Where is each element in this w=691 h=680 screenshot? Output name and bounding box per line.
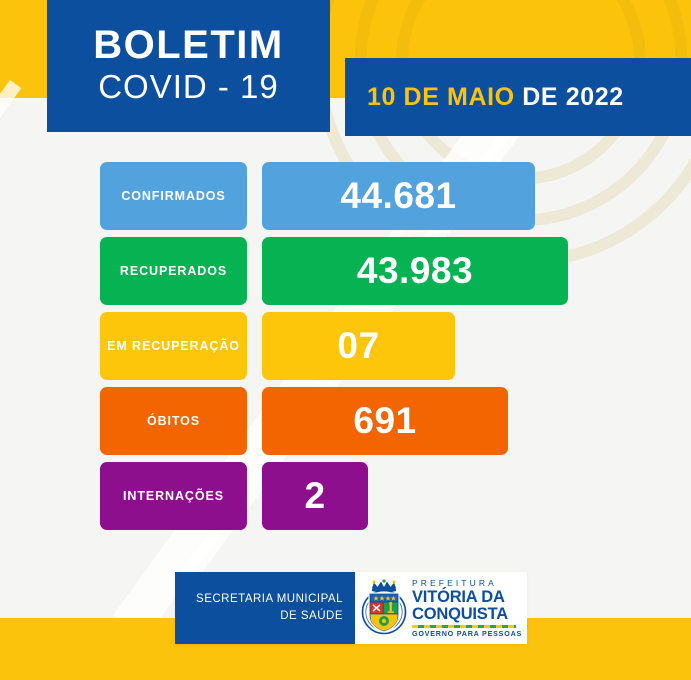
logo-city-line-1: VITÓRIA DA [412, 589, 522, 606]
stat-label: RECUPERADOS [100, 237, 247, 305]
logo-city-line-2: CONQUISTA [412, 606, 522, 623]
stat-value: 2 [262, 462, 368, 530]
bulletin-date: 10 DE MAIO DE 2022 [367, 83, 624, 112]
stat-label: INTERNAÇÕES [100, 462, 247, 530]
logo-prefeitura-word: PREFEITURA [412, 579, 522, 588]
secretaria-line-2: DE SAÚDE [196, 608, 343, 625]
page-subtitle: COVID - 19 [47, 68, 330, 106]
footer-bar: SECRETARIA MUNICIPAL DE SAÚDE [175, 572, 527, 644]
prefeitura-logotype: PREFEITURA VITÓRIA DA CONQUISTA GOVERNO … [412, 579, 522, 637]
stat-value: 691 [262, 387, 508, 455]
statistics-list: CONFIRMADOS44.681RECUPERADOS43.983EM REC… [0, 162, 691, 537]
stat-label: ÓBITOS [100, 387, 247, 455]
stat-value: 43.983 [262, 237, 568, 305]
stat-value: 07 [262, 312, 455, 380]
stat-label: EM RECUPERAÇÃO [100, 312, 247, 380]
header-title-block: BOLETIM COVID - 19 [47, 0, 330, 132]
stat-row: CONFIRMADOS44.681 [0, 162, 691, 230]
bulletin-date-day-month: 10 DE MAIO [367, 83, 522, 111]
stat-row: ÓBITOS691 [0, 387, 691, 455]
logo-divider-rule [412, 625, 516, 628]
footer-secretaria-text: SECRETARIA MUNICIPAL DE SAÚDE [196, 591, 343, 624]
stat-row: EM RECUPERAÇÃO07 [0, 312, 691, 380]
prefeitura-logo-block: PREFEITURA VITÓRIA DA CONQUISTA GOVERNO … [355, 572, 527, 644]
logo-tagline: GOVERNO PARA PESSOAS [412, 630, 522, 637]
stat-row: RECUPERADOS43.983 [0, 237, 691, 305]
stat-label: CONFIRMADOS [100, 162, 247, 230]
stat-value: 44.681 [262, 162, 535, 230]
secretaria-line-1: SECRETARIA MUNICIPAL [196, 591, 343, 608]
bulletin-date-year: DE 2022 [522, 83, 624, 111]
coat-of-arms-icon [361, 579, 407, 637]
header-date-block: 10 DE MAIO DE 2022 [345, 58, 691, 136]
footer-secretaria-block: SECRETARIA MUNICIPAL DE SAÚDE [175, 572, 355, 644]
stat-row: INTERNAÇÕES2 [0, 462, 691, 530]
page-title: BOLETIM [47, 24, 330, 66]
boletim-infographic: BOLETIM COVID - 19 10 DE MAIO DE 2022 CO… [0, 0, 691, 680]
